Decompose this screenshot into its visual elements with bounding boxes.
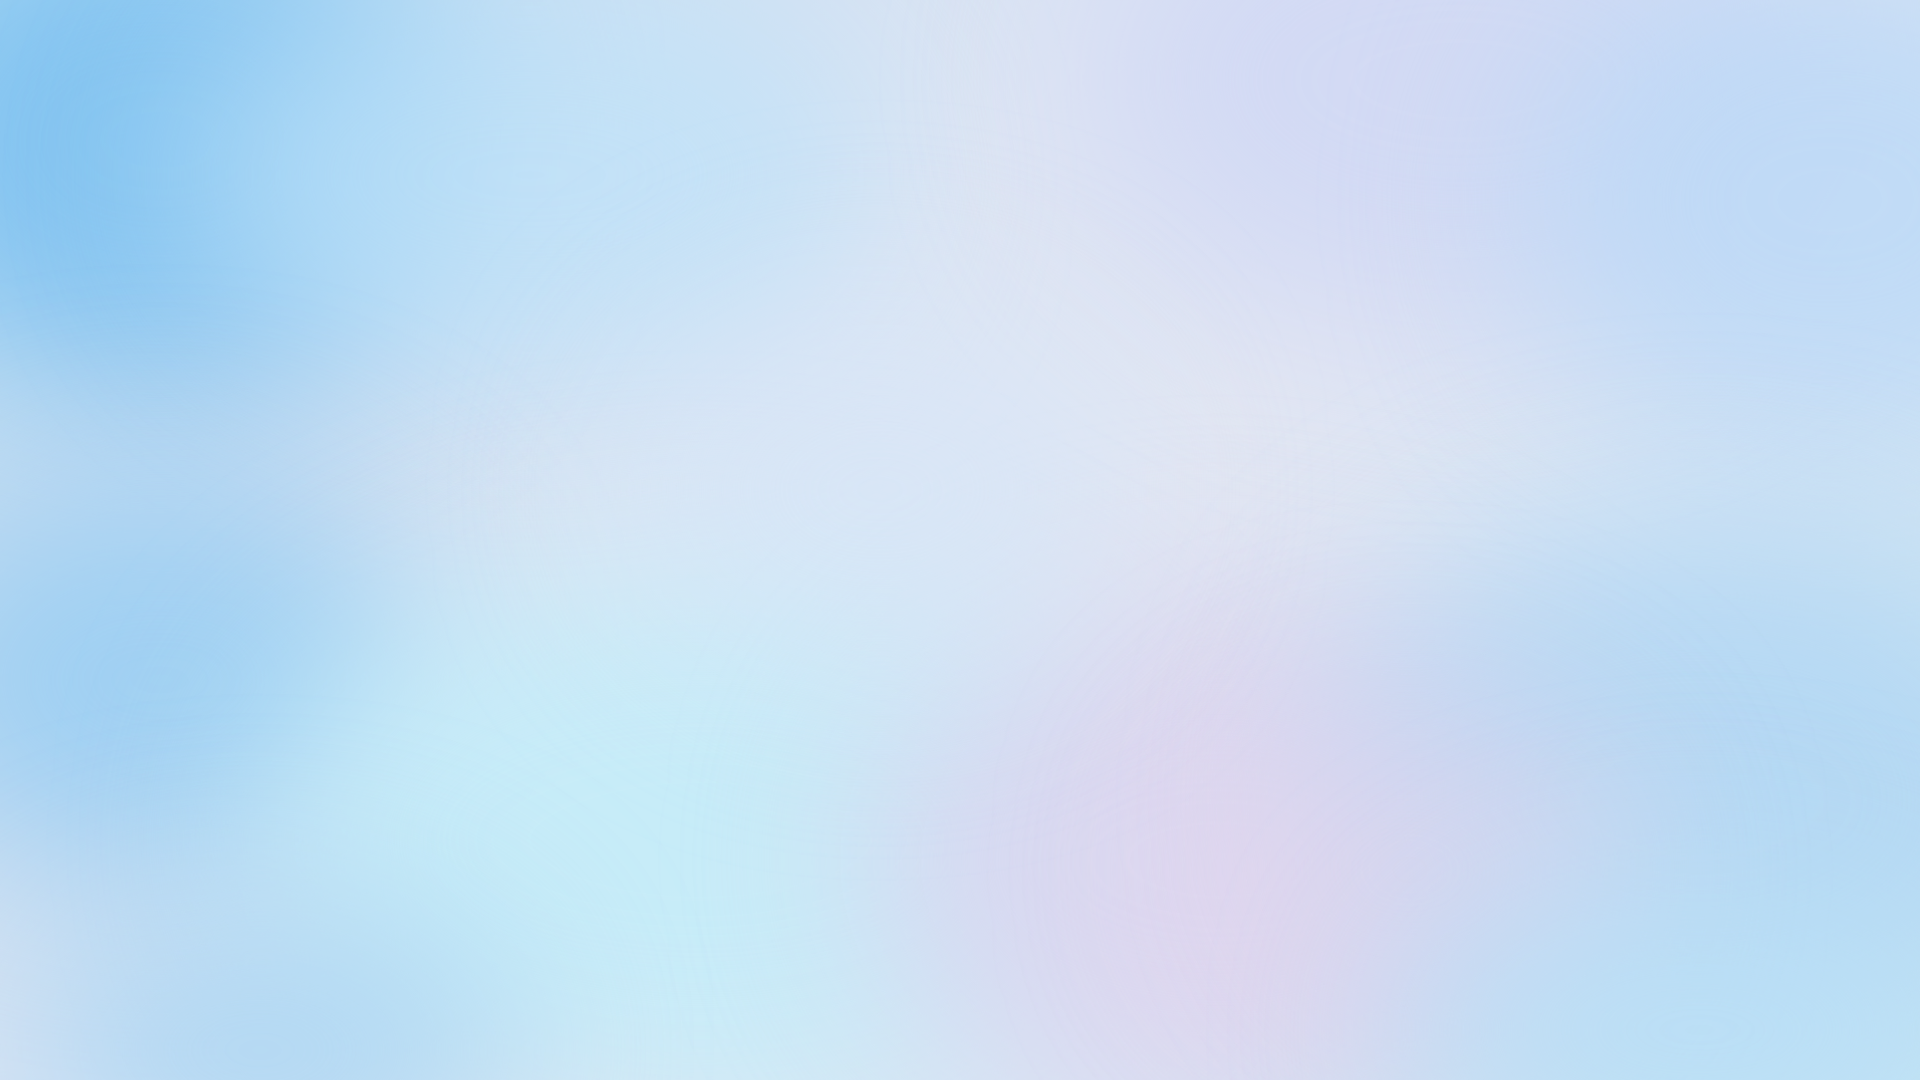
- chevron-band: [0, 366, 1920, 466]
- process-diagram: [0, 0, 1920, 1080]
